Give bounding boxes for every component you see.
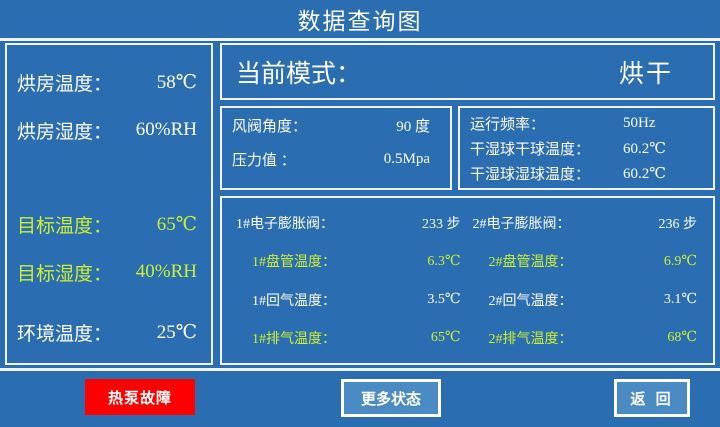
valve-angle-value: 90 度: [396, 115, 438, 136]
grid-cell-value: 6.9℃: [664, 253, 697, 270]
hmi-screen: 数据查询图 烘房温度： 58℃ 烘房湿度： 60%RH 目标温度： 65℃ 目标…: [0, 0, 720, 427]
compressor-circuits-grid: 1#电子膨胀阀： 233 步 2#电子膨胀阀： 236 步 1#盘管温度： 6.…: [222, 198, 713, 363]
current-mode-label: 当前模式：: [236, 54, 361, 90]
wet-bulb-label: 干湿球湿球温度：: [470, 163, 590, 184]
valve-pressure-panel: 风阀角度： 90 度 压力值 ： 0.5Mpa: [220, 106, 452, 190]
header-bar: 数据查询图: [0, 0, 720, 38]
current-mode-panel: 当前模式： 烘干: [220, 43, 715, 100]
grid-cell-value: 3.1℃: [664, 291, 697, 308]
dry-bulb-row: 干湿球干球温度： 60.2℃: [460, 136, 713, 161]
dry-bulb-label: 干湿球干球温度：: [470, 138, 590, 159]
more-status-label: 更多状态: [361, 388, 421, 409]
readout-label: 烘房温度：: [17, 69, 112, 96]
pressure-label: 压力值 ：: [232, 149, 296, 170]
grid-cell-label: 1#盘管温度：: [252, 251, 336, 271]
heat-pump-fault-button[interactable]: 热泵故障: [85, 379, 195, 415]
current-mode-row: 当前模式： 烘干: [222, 45, 713, 98]
page-title: 数据查询图: [298, 2, 423, 36]
grid-cell-value: 6.3℃: [427, 253, 460, 270]
grid-cell-label: 1#回气温度：: [252, 290, 336, 310]
return-button[interactable]: 返 回: [614, 379, 690, 417]
grid-cell-coil-temp-2: 2#盘管温度： 6.9℃: [467, 242, 704, 280]
readout-value: 25℃: [157, 321, 197, 344]
grid-cell-coil-temp-1: 1#盘管温度： 6.3℃: [230, 242, 467, 280]
return-label: 返 回: [630, 388, 673, 409]
readout-row-ambient-temperature: 环境温度： 25℃: [7, 317, 211, 347]
grid-cell-label: 1#电子膨胀阀：: [236, 213, 334, 233]
footer-bar: 热泵故障 更多状态 返 回: [0, 371, 720, 427]
grid-cell-value: 3.5℃: [427, 291, 460, 308]
readout-value: 60%RH: [136, 119, 197, 141]
readout-row-target-humidity: 目标湿度： 40%RH: [7, 257, 211, 287]
valve-angle-label: 风阀角度：: [232, 115, 307, 136]
grid-cell-label: 2#盘管温度：: [489, 251, 573, 271]
valve-angle-row: 风阀角度： 90 度: [222, 108, 450, 142]
grid-cell-value: 233 步: [422, 213, 461, 233]
grid-cell-eev-2: 2#电子膨胀阀： 236 步: [467, 204, 704, 242]
frequency-bulb-panel: 运行频率： 50Hz 干湿球干球温度： 60.2℃ 干湿球湿球温度： 60.2℃: [458, 106, 715, 190]
readout-label: 烘房湿度：: [17, 117, 112, 144]
wet-bulb-value: 60.2℃: [623, 164, 701, 183]
grid-cell-label: 1#排气温度：: [252, 328, 336, 348]
grid-cell-label: 2#排气温度：: [489, 328, 573, 348]
readout-row-room-humidity: 烘房湿度： 60%RH: [7, 115, 211, 145]
dry-bulb-value: 60.2℃: [623, 139, 701, 158]
readout-row-target-temperature: 目标温度： 65℃: [7, 209, 211, 239]
grid-cell-eev-1: 1#电子膨胀阀： 233 步: [230, 204, 467, 242]
grid-cell-return-gas-temp-2: 2#回气温度： 3.1℃: [467, 281, 704, 319]
current-mode-value: 烘干: [619, 54, 673, 90]
readout-value: 65℃: [157, 213, 197, 236]
readout-row-room-temperature: 烘房温度： 58℃: [7, 67, 211, 97]
grid-cell-value: 65℃: [431, 329, 461, 346]
grid-cell-value: 68℃: [667, 329, 697, 346]
environment-readouts-panel: 烘房温度： 58℃ 烘房湿度： 60%RH 目标温度： 65℃ 目标湿度： 40…: [5, 43, 213, 365]
heat-pump-fault-label: 热泵故障: [108, 387, 172, 408]
readout-value: 40%RH: [136, 261, 197, 283]
run-frequency-row: 运行频率： 50Hz: [460, 111, 713, 136]
header-divider: [0, 38, 720, 41]
more-status-button[interactable]: 更多状态: [341, 379, 441, 417]
run-frequency-value: 50Hz: [623, 115, 701, 132]
grid-cell-return-gas-temp-1: 1#回气温度： 3.5℃: [230, 281, 467, 319]
grid-cell-discharge-temp-1: 1#排气温度： 65℃: [230, 319, 467, 357]
wet-bulb-row: 干湿球湿球温度： 60.2℃: [460, 161, 713, 186]
run-frequency-label: 运行频率：: [470, 113, 545, 134]
readout-label: 环境温度：: [17, 319, 112, 346]
grid-cell-value: 236 步: [659, 213, 698, 233]
readout-value: 58℃: [157, 71, 197, 94]
pressure-row: 压力值 ： 0.5Mpa: [222, 142, 450, 176]
readout-label: 目标温度：: [17, 211, 112, 238]
pressure-value: 0.5Mpa: [384, 151, 438, 168]
grid-cell-label: 2#回气温度：: [489, 290, 573, 310]
compressor-circuits-panel: 1#电子膨胀阀： 233 步 2#电子膨胀阀： 236 步 1#盘管温度： 6.…: [220, 196, 715, 365]
grid-cell-label: 2#电子膨胀阀：: [473, 213, 571, 233]
readout-label: 目标湿度：: [17, 259, 112, 286]
grid-cell-discharge-temp-2: 2#排气温度： 68℃: [467, 319, 704, 357]
